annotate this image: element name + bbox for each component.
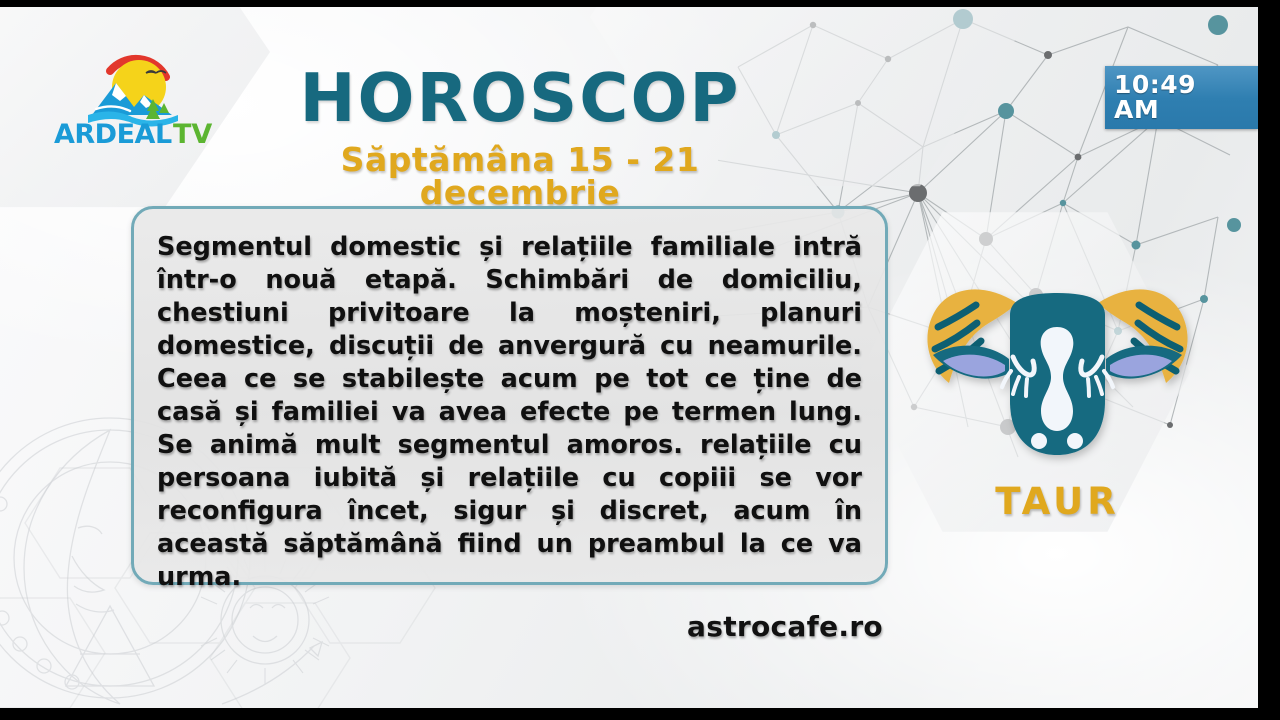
channel-logo[interactable]: ARDEAL TV bbox=[40, 51, 230, 149]
ardeal-tv-logo-icon: ARDEAL TV bbox=[40, 51, 230, 149]
broadcast-frame: ARDEAL TV HOROSCOP Săptămâna 15 - 21 dec… bbox=[0, 0, 1280, 720]
taurus-bull-head-icon bbox=[905, 219, 1210, 481]
header-title-block: HOROSCOP Săptămâna 15 - 21 decembrie bbox=[250, 65, 790, 209]
page-subtitle: Săptămâna 15 - 21 decembrie bbox=[250, 143, 790, 209]
horoscope-text-card: Segmentul domestic și relațiile familial… bbox=[131, 206, 888, 585]
source-credit: astrocafe.ro bbox=[640, 610, 930, 643]
horoscope-body-text: Segmentul domestic și relațiile familial… bbox=[157, 231, 862, 594]
zodiac-sign-name: TAUR bbox=[905, 483, 1210, 520]
zodiac-emblem: TAUR bbox=[905, 219, 1210, 549]
logo-wordmark-ardeal: ARDEAL bbox=[54, 119, 172, 149]
video-content-area: ARDEAL TV HOROSCOP Săptămâna 15 - 21 dec… bbox=[0, 7, 1258, 708]
logo-wordmark-tv: TV bbox=[173, 119, 212, 149]
clock-badge: 10:49 AM bbox=[1105, 66, 1258, 129]
page-title: HOROSCOP bbox=[250, 65, 790, 132]
